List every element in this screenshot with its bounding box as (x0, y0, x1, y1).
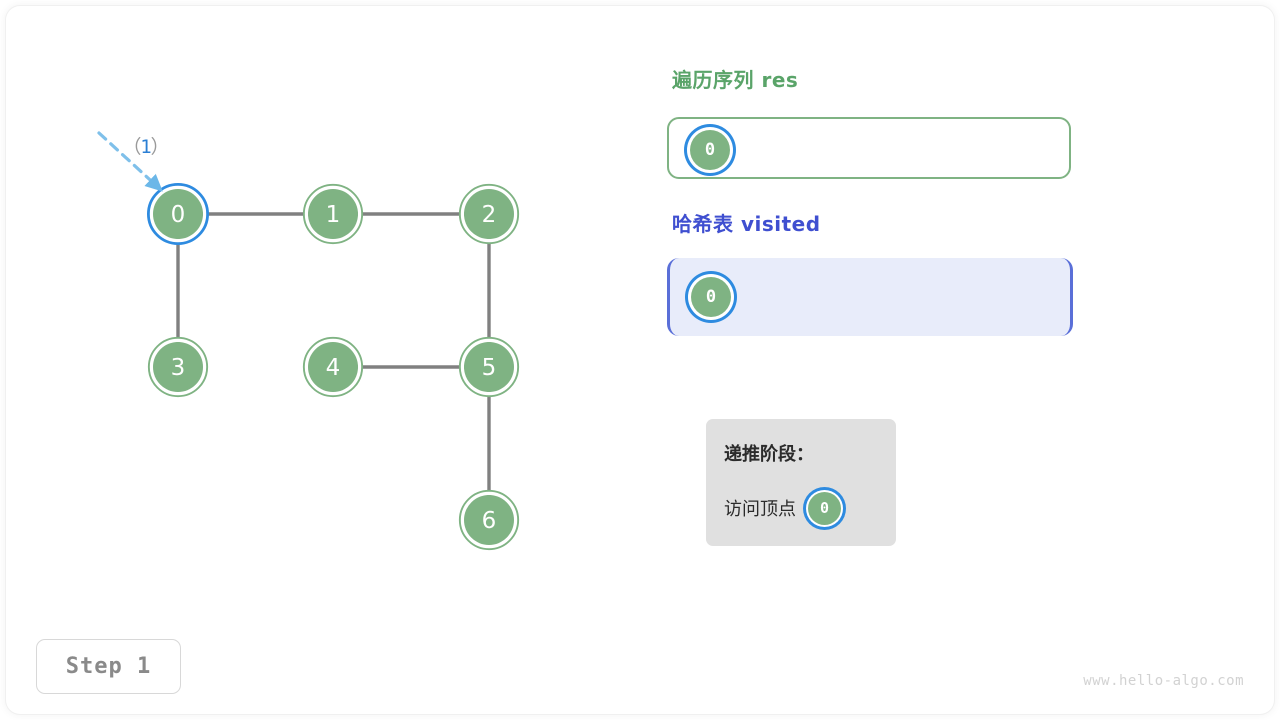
node-label-4: 4 (326, 355, 341, 381)
graph-node-0[interactable]: 0 (149, 185, 208, 244)
node-label-0: 0 (171, 202, 186, 228)
step-badge: Step 1 (36, 639, 181, 694)
phase-action-row: 访问顶点 0 (724, 488, 841, 528)
node-label-1: 1 (326, 202, 341, 228)
node-label-5: 5 (482, 355, 497, 381)
graph-nodes: 0123456 (149, 185, 519, 550)
side-panel: 遍历序列 res 0 哈希表 visited 0 递推阶段： 访问顶点 0 (666, 0, 1280, 720)
visited-title: 哈希表 visited (672, 208, 821, 237)
svg-text:（: （ (122, 136, 141, 158)
svg-text:）: ） (150, 136, 169, 158)
visited-hashset-box: 0 (667, 258, 1073, 336)
graph-visualization: 0123456 （ 1 ） (0, 0, 640, 720)
graph-node-6[interactable]: 6 (460, 491, 518, 549)
phase-heading: 递推阶段： (724, 440, 814, 466)
res-array-box: 0 (667, 117, 1071, 179)
step-badge-label: Step 1 (66, 654, 151, 679)
node-label-6: 6 (482, 508, 497, 534)
graph-node-1[interactable]: 1 (304, 185, 362, 243)
node-label-3: 3 (171, 355, 186, 381)
phase-info-box: 递推阶段： 访问顶点 0 (706, 419, 896, 546)
node-label-2: 2 (482, 202, 497, 228)
phase-action-label: 访问顶点 (724, 495, 796, 521)
step-annotation-label: （ 1 ） (122, 136, 169, 158)
graph-svg: 0123456 （ 1 ） (0, 0, 640, 720)
phase-action-vertex: 0 (808, 492, 841, 525)
graph-node-3[interactable]: 3 (149, 338, 207, 396)
res-item-0: 0 (690, 130, 730, 170)
visited-item-0: 0 (691, 277, 731, 317)
graph-node-4[interactable]: 4 (304, 338, 362, 396)
res-title: 遍历序列 res (672, 64, 798, 93)
watermark: www.hello-algo.com (1083, 673, 1244, 689)
screenshot-canvas: 0123456 （ 1 ） 遍历序列 res 0 哈希表 visited 0 递… (0, 0, 1280, 720)
graph-node-5[interactable]: 5 (460, 338, 518, 396)
graph-node-2[interactable]: 2 (460, 185, 518, 243)
